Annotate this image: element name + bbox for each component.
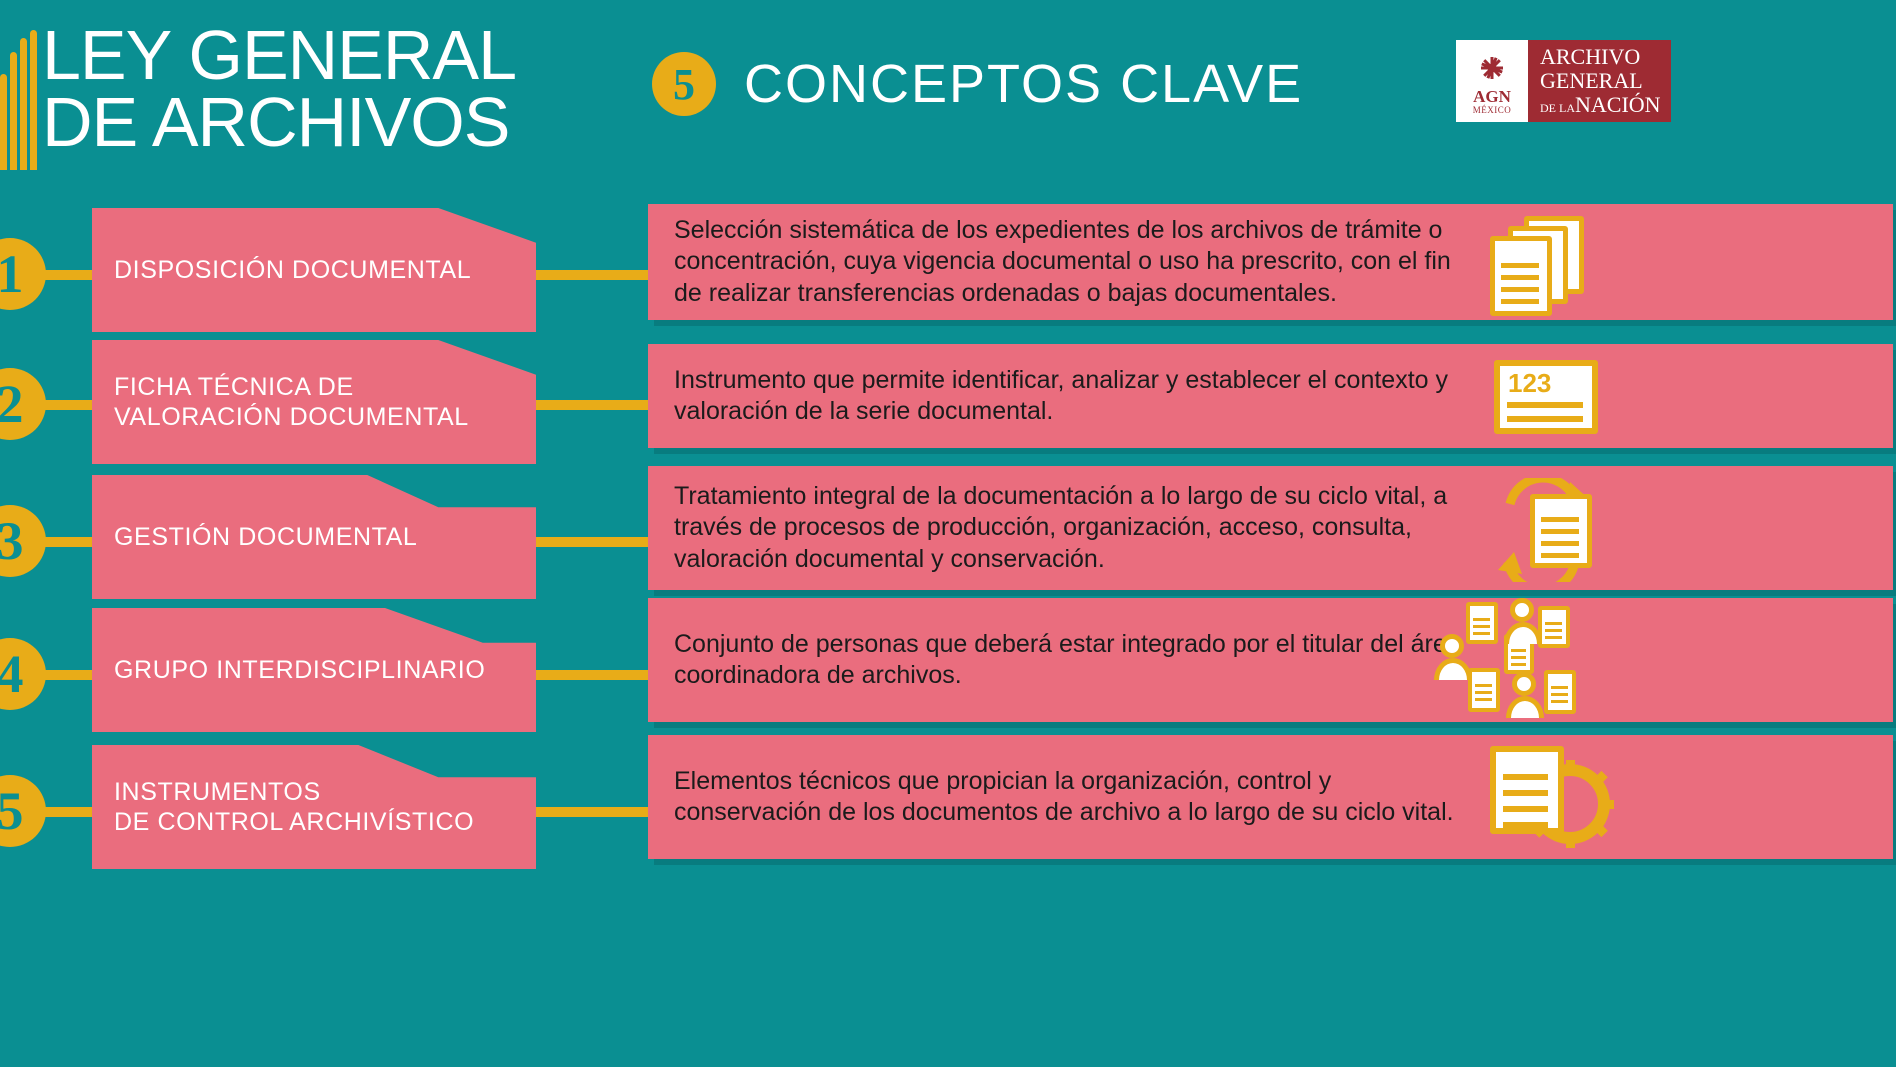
document-gear-icon (1488, 742, 1618, 852)
concept-label-4[interactable]: GRUPO INTERDISCIPLINARIO (92, 608, 536, 732)
concept-description-4-text: Conjunto de personas que deberá estar in… (674, 629, 1474, 692)
agn-word-general: GENERAL (1540, 69, 1661, 93)
concept-description-5-text: Elementos técnicos que propician la orga… (674, 766, 1474, 829)
connector-left-5 (40, 807, 98, 817)
numbered-card-icon: 123 (1490, 356, 1610, 440)
agn-logo-mark: AGN MÉXICO (1456, 40, 1528, 122)
agn-logo: AGN MÉXICO ARCHIVO GENERAL DE LANACIÓN (1456, 40, 1671, 122)
agn-word-nacion: NACIÓN (1575, 92, 1661, 117)
agn-word-archivo: ARCHIVO (1540, 45, 1661, 69)
connector-right-4 (536, 670, 648, 680)
connector-right-3 (536, 537, 648, 547)
connector-left-1 (40, 270, 98, 280)
agn-word-dela: DE LA (1540, 101, 1575, 115)
document-cycle-icon (1478, 478, 1608, 582)
agn-star-icon (1469, 48, 1515, 88)
section-heading: 5 CONCEPTOS CLAVE (652, 52, 1303, 116)
concept-label-2[interactable]: FICHA TÉCNICA DE VALORACIÓN DOCUMENTAL (92, 340, 536, 464)
numbered-card-text: 123 (1508, 368, 1551, 399)
connector-right-1 (536, 270, 648, 280)
concept-label-5-line2: DE CONTROL ARCHIVÍSTICO (114, 807, 474, 838)
concept-label-1-line1: DISPOSICIÓN DOCUMENTAL (114, 255, 471, 286)
agn-wordmark: ARCHIVO GENERAL DE LANACIÓN (1528, 40, 1671, 122)
connector-left-4 (40, 670, 98, 680)
concept-label-2-line2: VALORACIÓN DOCUMENTAL (114, 402, 469, 433)
connector-right-2 (536, 400, 648, 410)
concept-description-2[interactable]: Instrumento que permite identificar, ana… (648, 344, 1893, 448)
concept-description-1-text: Selección sistemática de los expedientes… (674, 215, 1474, 310)
concept-label-1[interactable]: DISPOSICIÓN DOCUMENTAL (92, 208, 536, 332)
agn-acronym: AGN (1473, 88, 1511, 105)
section-title: CONCEPTOS CLAVE (744, 53, 1303, 115)
concept-description-2-text: Instrumento que permite identificar, ana… (674, 365, 1474, 428)
people-documents-icon (1440, 600, 1610, 720)
concept-description-3-text: Tratamiento integral de la documentación… (674, 481, 1474, 576)
concept-description-1[interactable]: Selección sistemática de los expedientes… (648, 204, 1893, 320)
concept-description-3[interactable]: Tratamiento integral de la documentación… (648, 466, 1893, 590)
connector-left-2 (40, 400, 98, 410)
concept-label-4-line1: GRUPO INTERDISCIPLINARIO (114, 655, 485, 686)
page-title: LEY GENERAL DE ARCHIVOS (42, 22, 516, 155)
concept-label-2-line1: FICHA TÉCNICA DE (114, 372, 469, 403)
concept-label-3-line1: GESTIÓN DOCUMENTAL (114, 522, 417, 553)
concept-description-5[interactable]: Elementos técnicos que propician la orga… (648, 735, 1893, 859)
connector-left-3 (40, 537, 98, 547)
infographic-canvas: LEY GENERAL DE ARCHIVOS 5 CONCEPTOS CLAV… (0, 0, 1896, 1067)
concept-label-5-line1: INSTRUMENTOS (114, 777, 474, 808)
stacked-documents-icon (1486, 214, 1606, 314)
agn-country: MÉXICO (1473, 105, 1512, 115)
concept-label-3[interactable]: GESTIÓN DOCUMENTAL (92, 475, 536, 599)
connector-right-5 (536, 807, 648, 817)
concept-count-badge: 5 (652, 52, 716, 116)
concept-label-5[interactable]: INSTRUMENTOS DE CONTROL ARCHIVÍSTICO (92, 745, 536, 869)
concept-description-4[interactable]: Conjunto de personas que deberá estar in… (648, 598, 1893, 722)
title-line-2: DE ARCHIVOS (42, 89, 516, 156)
